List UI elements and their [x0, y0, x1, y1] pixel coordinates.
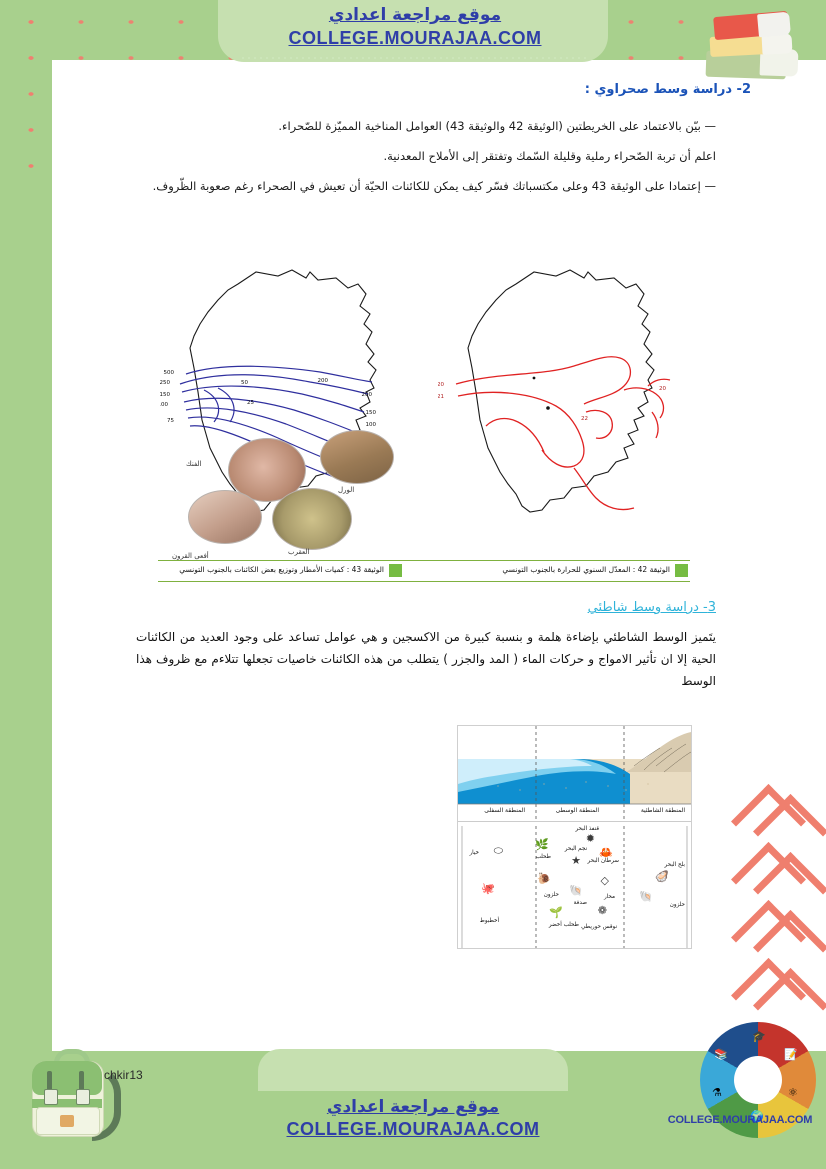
- footer-notch: [258, 1049, 568, 1091]
- coastal-figure-svg: [458, 726, 691, 948]
- zone-label-lower: المنطقة السفلى: [484, 807, 525, 814]
- flask-icon: ⚗: [712, 1086, 722, 1099]
- graduation-cap-icon: 🎓: [752, 1030, 766, 1043]
- label-fennec: الفنك: [186, 460, 202, 468]
- label-snail-coastal: حلزون: [670, 902, 685, 908]
- backpack-tag: [60, 1115, 74, 1127]
- header-dot-line: [240, 56, 588, 59]
- svg-text:50: 50: [241, 380, 248, 386]
- label-green-algae: طحلب أخضر: [549, 922, 579, 928]
- octopus-icon: 🐙: [481, 884, 495, 895]
- svg-text:250: 250: [160, 380, 170, 386]
- starfish-icon: ★: [571, 856, 581, 867]
- coastal-zones-figure: المنطقة الشاطئية المنطقة الوسطى المنطقة …: [457, 725, 692, 949]
- snail-icon-middle: 🐌: [537, 874, 551, 885]
- backpack-flap: [32, 1061, 102, 1095]
- section3-paragraph: يتَميز الوسط الشاطئي بإضاءة هلمة و بنسبة…: [136, 626, 716, 693]
- svg-text:150: 150: [160, 392, 170, 398]
- backpack-buckle-left: [44, 1089, 58, 1105]
- svg-text:75: 75: [167, 418, 174, 424]
- label-scorpion: العقرب: [288, 548, 309, 556]
- atom-icon: ⚛: [788, 1086, 798, 1099]
- photo-horned-viper: [188, 490, 262, 544]
- svg-text:200: 200: [318, 378, 329, 384]
- logo-center: [734, 1056, 782, 1104]
- shell-icon: 🐚: [569, 886, 583, 897]
- author-watermark: chkir13: [104, 1068, 143, 1082]
- backpack-buckle-right: [76, 1089, 90, 1105]
- instruction-line-2: اعلم أن تربة الصّحراء رملية وقليلة السّم…: [136, 148, 716, 166]
- footer-site-name-arabic: موقع مراجعة اعدادي: [250, 1097, 576, 1117]
- temperature-map: 20 21 22 20: [438, 262, 688, 552]
- temperature-map-svg: 20 21 22 20: [438, 262, 688, 552]
- mussel-icon: 🦪: [655, 872, 669, 883]
- red-book-pages: [757, 12, 791, 38]
- sea-urchin-icon: ✹: [586, 834, 595, 845]
- svg-text:500: 500: [164, 370, 175, 376]
- seaweed-icon: 🌿: [535, 840, 549, 851]
- rainfall-map: 500 250 150 100 75 200 200 150 100 100 5…: [160, 262, 410, 552]
- books-icon: 📚: [714, 1048, 728, 1061]
- svg-text:100: 100: [160, 402, 168, 408]
- svg-text:200: 200: [362, 392, 373, 398]
- document-page: موقع مراجعة اعدادي COLLEGE.MOURAJAA.COM …: [0, 0, 826, 1169]
- label-sea-anemone: نوقس حوريطي: [581, 924, 617, 930]
- label-crab: سرطان البحر: [588, 858, 619, 864]
- caption-43: الوثيقة 43 : كميات الأمطار وتوزيع بعض ال…: [179, 565, 384, 574]
- snail-icon-coastal: 🐚: [639, 892, 653, 903]
- photo-monitor-lizard: [320, 430, 394, 484]
- label-starfish: نجم البحر: [565, 846, 587, 852]
- svg-text:100: 100: [366, 422, 377, 428]
- figure-caption-bar: الوثيقة 42 : المعدّل السنوي للحرارة بالج…: [158, 560, 690, 582]
- svg-text:22: 22: [581, 416, 588, 422]
- label-horned-viper: أفعى القرون: [172, 552, 209, 560]
- footer-site-url: COLLEGE.MOURAJAA.COM: [250, 1119, 576, 1141]
- dot-pattern-left: [0, 0, 54, 180]
- svg-text:20: 20: [659, 386, 666, 392]
- svg-text:20: 20: [438, 382, 444, 388]
- label-shell: صدفة: [574, 900, 587, 906]
- sea-anemone-icon: ❁: [598, 906, 607, 917]
- notebook-icon: 📝: [784, 1048, 798, 1061]
- site-name-arabic: موقع مراجعة اعدادي: [255, 6, 575, 26]
- caption-marker-43: [389, 564, 402, 577]
- label-snail-middle: حلزون: [544, 892, 559, 898]
- chevron-decoration: [738, 795, 824, 1025]
- caption-42: الوثيقة 42 : المعدّل السنوي للحرارة بالج…: [502, 565, 670, 574]
- svg-text:21: 21: [438, 394, 444, 400]
- logo-site-url: COLLEGE.MOURAJAA.COM: [655, 1114, 825, 1126]
- section3-heading: 3- دراسة وسط شاطئي: [588, 600, 716, 615]
- green-algae-icon: 🌱: [549, 908, 563, 919]
- label-oyster: محار: [604, 894, 615, 900]
- zone-label-middle: المنطقة الوسطى: [556, 807, 599, 814]
- label-monitor-lizard: الورل: [338, 486, 354, 494]
- section2-heading: 2- دراسة وسط صحراوي :: [585, 82, 751, 97]
- books-stack-icon: [700, 2, 810, 84]
- svg-text:150: 150: [366, 410, 377, 416]
- svg-text:25: 25: [247, 400, 254, 406]
- instruction-line-3: — إعتمادا على الوثيقة 43 وعلى مكتسباتك ف…: [136, 178, 716, 196]
- section2-instructions: — بيّن بالاعتماد على الخريطتين (الوثيقة …: [136, 118, 716, 207]
- caption-marker-42: [675, 564, 688, 577]
- maps-figure-area: 500 250 150 100 75 200 200 150 100 100 5…: [150, 262, 695, 590]
- sea-cucumber-icon: ⬭: [494, 846, 503, 857]
- oyster-icon: ◇: [601, 876, 609, 887]
- site-url-header: COLLEGE.MOURAJAA.COM: [255, 28, 575, 49]
- backpack-icon: [14, 1035, 118, 1147]
- zone-label-coastal: المنطقة الشاطئية: [641, 807, 685, 814]
- instruction-line-1: — بيّن بالاعتماد على الخريطتين (الوثيقة …: [136, 118, 716, 136]
- label-sea-urchin: قنفذ البحر: [575, 826, 599, 832]
- label-mussel: بلح البحر: [665, 862, 685, 868]
- label-octopus: أخطبوط: [480, 918, 499, 924]
- site-footer: موقع مراجعة اعدادي COLLEGE.MOURAJAA.COM: [250, 1097, 576, 1141]
- label-sea-cucumber: خيار: [469, 850, 479, 856]
- site-header: موقع مراجعة اعدادي COLLEGE.MOURAJAA.COM: [255, 6, 575, 48]
- photo-scorpion: [272, 488, 352, 550]
- label-seaweed: طحلب: [536, 854, 551, 860]
